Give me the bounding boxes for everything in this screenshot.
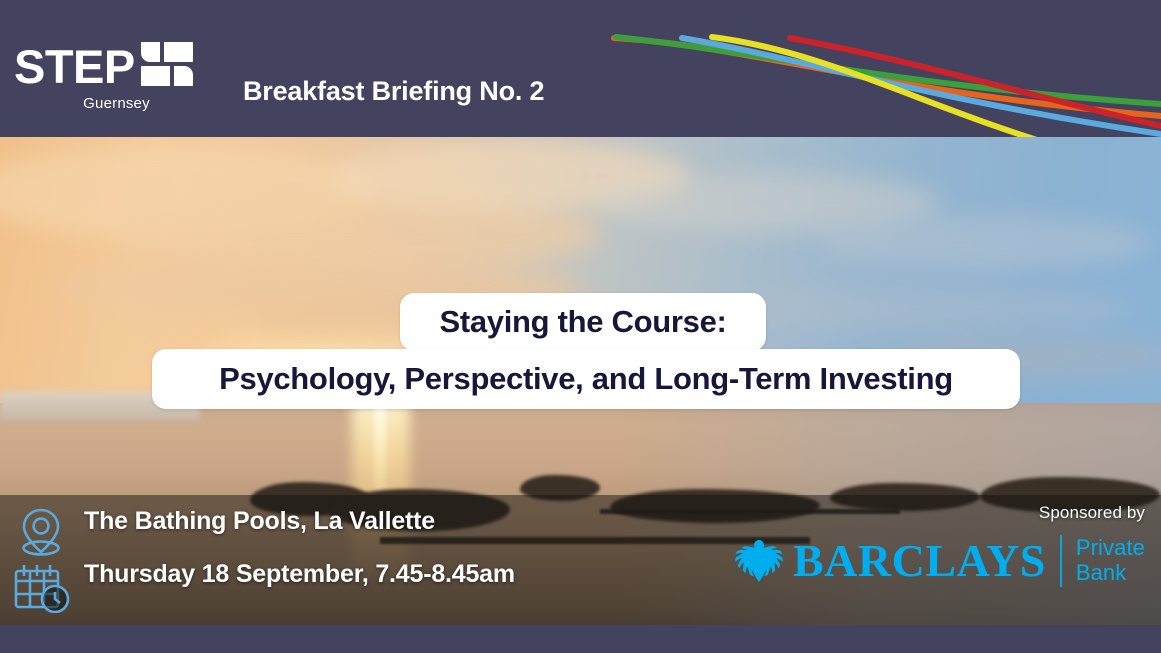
hero-title-line-1-text: Staying the Course: (439, 304, 726, 340)
sponsored-by-label: Sponsored by (1039, 503, 1145, 523)
division-line-1: Private (1076, 536, 1145, 561)
event-details-bar: The Bathing Pools, La Vallette Thursday … (0, 495, 1161, 625)
hero-title-line-1: Staying the Course: (400, 293, 766, 351)
event-detail-icons (10, 503, 72, 613)
division-line-2: Bank (1076, 561, 1145, 586)
header-bar: STEP Guernsey Breakfast Briefing No. 2 (0, 0, 1161, 137)
barclays-wordmark: BARCLAYS (793, 538, 1046, 584)
step-logo: STEP Guernsey (14, 42, 224, 112)
page-title: Breakfast Briefing No. 2 (243, 76, 544, 107)
calendar-clock-icon (16, 565, 68, 612)
map-pin-icon (24, 510, 59, 554)
step-squares-icon (141, 42, 193, 90)
event-detail-text: The Bathing Pools, La Vallette Thursday … (84, 509, 515, 587)
sponsor-block: Sponsored by BARCLAYS Private Bank (745, 503, 1145, 615)
logo-divider (1060, 535, 1062, 587)
hero-title-line-2-text: Psychology, Perspective, and Long-Term I… (219, 361, 953, 397)
event-promo-slide: STEP Guernsey Breakfast Briefing No. 2 (0, 0, 1161, 653)
barclays-logo: BARCLAYS Private Bank (734, 535, 1145, 587)
step-region-label: Guernsey (14, 95, 219, 112)
barclays-eagle-icon (734, 538, 784, 584)
ribbon-swoosh-graphic (600, 0, 1161, 137)
footer-bar (0, 625, 1161, 653)
event-datetime: Thursday 18 September, 7.45-8.45am (84, 562, 515, 587)
event-venue: The Bathing Pools, La Vallette (84, 509, 515, 534)
step-wordmark: STEP (14, 43, 135, 90)
hero-title-line-2: Psychology, Perspective, and Long-Term I… (152, 349, 1020, 409)
barclays-division: Private Bank (1076, 536, 1145, 585)
